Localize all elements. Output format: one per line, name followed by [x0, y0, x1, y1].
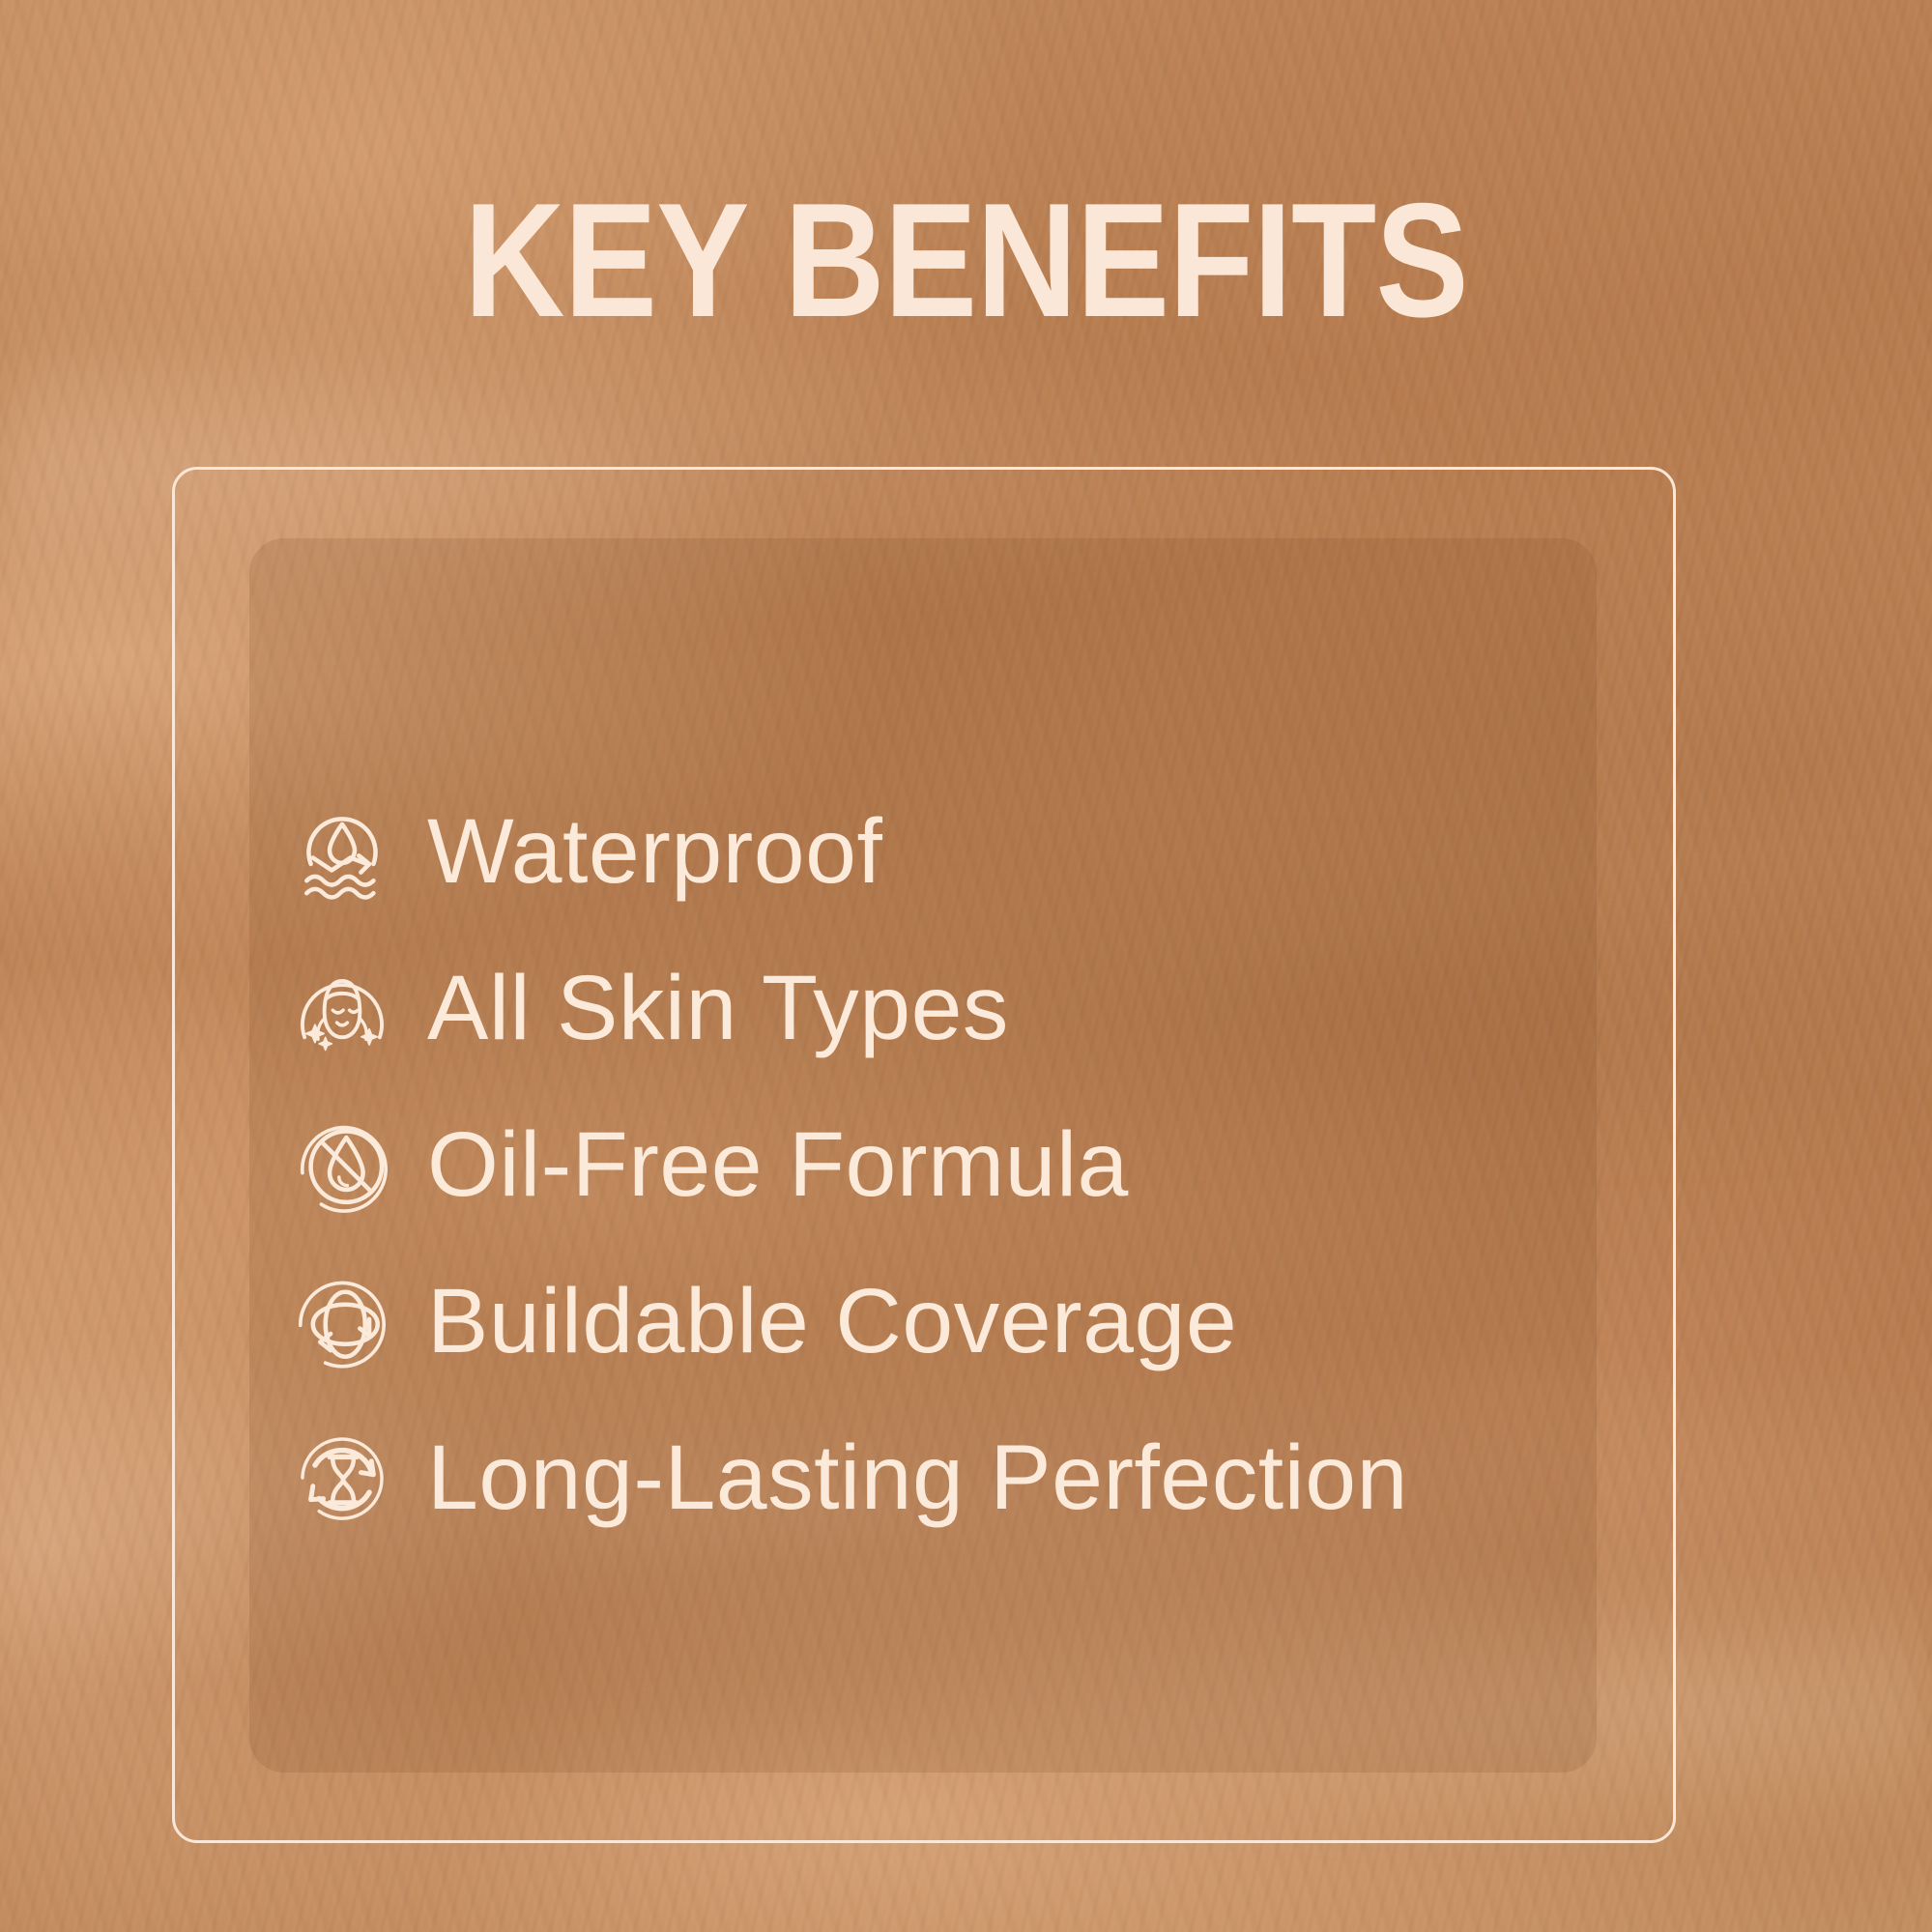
list-item: Oil-Free Formula	[290, 1086, 1643, 1243]
list-item-label: Oil-Free Formula	[427, 1119, 1129, 1211]
benefits-list: Waterproof All Skin Types	[290, 773, 1643, 1556]
no-oil-droplet-icon	[290, 1112, 394, 1217]
list-item-label: Waterproof	[427, 806, 882, 898]
list-item-label: Buildable Coverage	[427, 1276, 1237, 1368]
list-item: Buildable Coverage	[290, 1243, 1643, 1399]
page-title: KEY BENEFITS	[135, 179, 1797, 341]
waterproof-droplet-waves-icon	[290, 799, 394, 904]
list-item: Long-Lasting Perfection	[290, 1399, 1643, 1556]
hourglass-cycle-icon	[290, 1426, 394, 1530]
list-item-label: All Skin Types	[427, 963, 1009, 1054]
list-item-label: Long-Lasting Perfection	[427, 1432, 1408, 1524]
face-sparkle-skin-types-icon	[290, 956, 394, 1060]
orbit-arrows-buildable-icon	[290, 1269, 394, 1373]
list-item: All Skin Types	[290, 930, 1643, 1086]
list-item: Waterproof	[290, 773, 1643, 930]
